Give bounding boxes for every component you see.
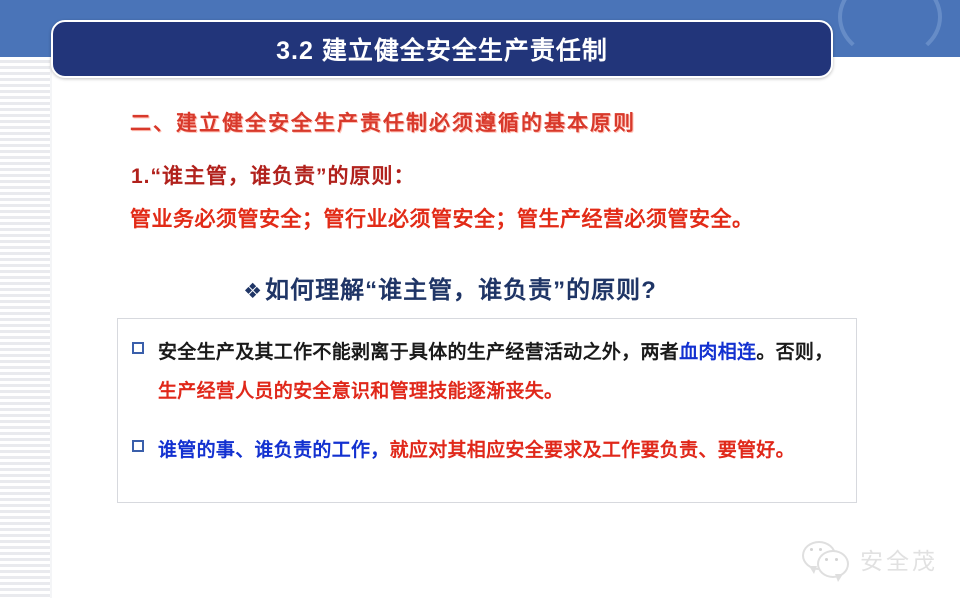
text-segment-highlight-blue: 谁管的事、谁负责的工作， (158, 440, 390, 461)
list-item: 安全生产及其工作不能剥离于具体的生产经营活动之外，两者血肉相连。否则，生产经营人… (128, 333, 840, 411)
text-segment-highlight-red: 就应对其相应安全要求及工作要负责、要管好。 (390, 440, 795, 461)
left-rail-edge (50, 57, 52, 601)
section-heading: 二、建立健全安全生产责任制必须遵循的基本原则 (130, 107, 636, 137)
wechat-icon (802, 539, 850, 579)
principle-detail: 管业务必须管安全；管行业必须管安全；管生产经营必须管安全。 (130, 203, 754, 233)
list-item: 谁管的事、谁负责的工作，就应对其相应安全要求及工作要负责、要管好。 (128, 431, 840, 470)
left-striped-rail (0, 57, 50, 601)
text-segment: 安全生产及其工作不能剥离于具体的生产经营活动之外，两者 (158, 342, 679, 363)
text-segment: 。否则， (756, 342, 833, 363)
arc-decoration-icon (838, 0, 942, 60)
principle-label: 1.“谁主管，谁负责”的原则： (131, 160, 416, 190)
slide-title-plate: 3.2 建立健全安全生产责任制 (51, 20, 833, 78)
wechat-bubble-front (817, 550, 849, 578)
question-text: 如何理解“谁主管，谁负责”的原则? (265, 277, 657, 304)
content-box: 安全生产及其工作不能剥离于具体的生产经营活动之外，两者血肉相连。否则，生产经营人… (117, 318, 857, 503)
wechat-dot (825, 558, 828, 561)
wechat-dot (835, 558, 838, 561)
watermark-label: 安全茂 (860, 542, 938, 576)
diamond-bullet-icon: ❖ (243, 280, 263, 303)
wechat-dot (810, 548, 813, 551)
page-title: 3.2 建立健全安全生产责任制 (276, 31, 608, 67)
list-item-text: 安全生产及其工作不能剥离于具体的生产经营活动之外，两者血肉相连。否则，生产经营人… (158, 333, 840, 411)
question-line: ❖如何理解“谁主管，谁负责”的原则? (0, 270, 900, 305)
text-segment-highlight-blue: 血肉相连 (679, 342, 756, 363)
slide-canvas: 3.2 建立健全安全生产责任制 二、建立健全安全生产责任制必须遵循的基本原则 1… (0, 0, 960, 601)
text-segment-highlight-red: 生产经营人员的安全意识和管理技能逐渐丧失。 (158, 381, 563, 402)
watermark: 安全茂 (802, 539, 938, 579)
square-bullet-icon (132, 440, 144, 452)
square-bullet-icon (132, 342, 144, 354)
list-item-text: 谁管的事、谁负责的工作，就应对其相应安全要求及工作要负责、要管好。 (158, 431, 840, 470)
wechat-dot (819, 548, 822, 551)
